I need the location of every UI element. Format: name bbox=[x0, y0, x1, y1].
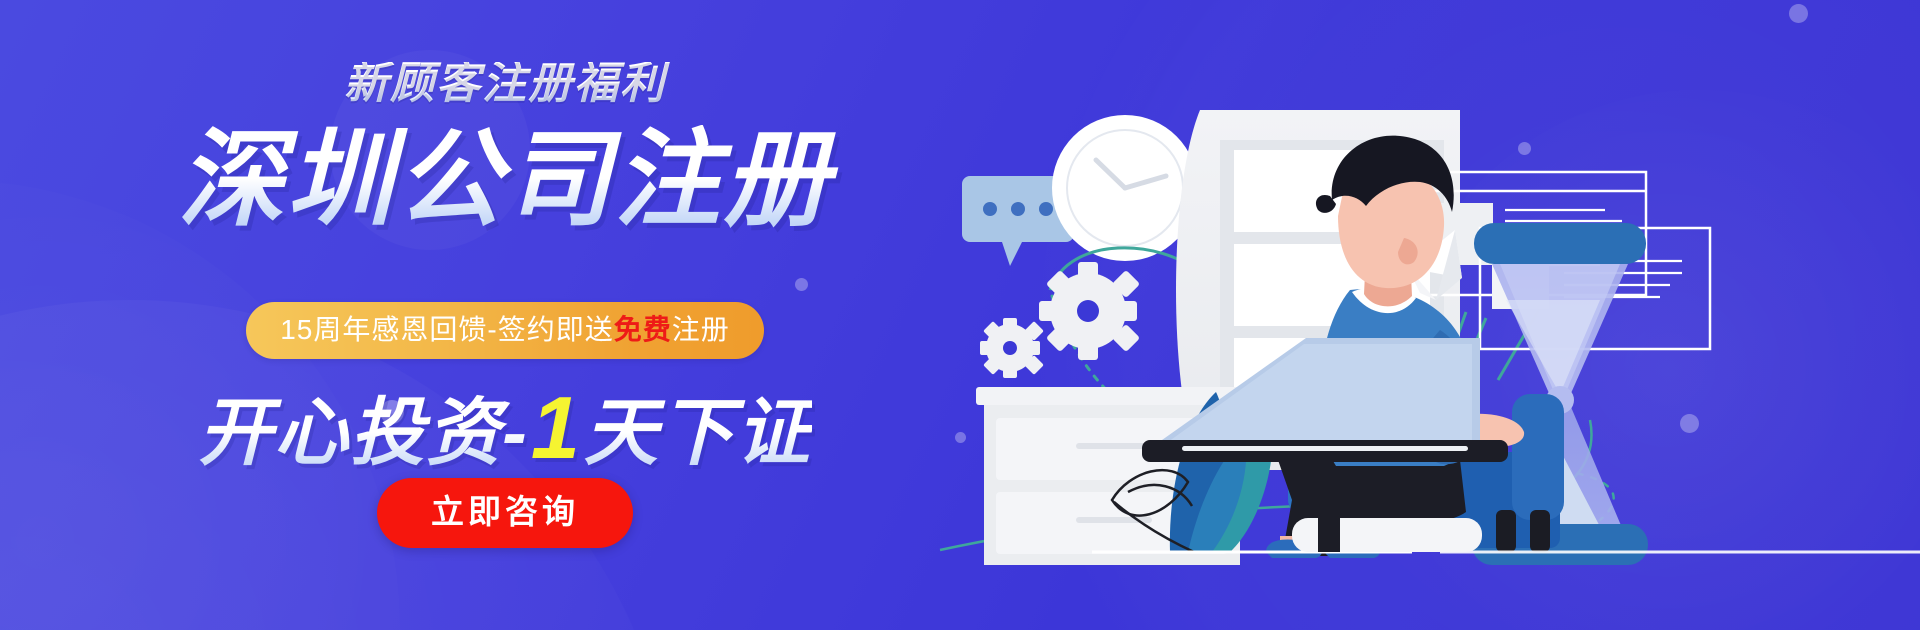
floor-mat bbox=[1292, 518, 1482, 552]
gear-icon-large bbox=[1039, 262, 1140, 360]
tagline-before: 开心投资- bbox=[198, 391, 529, 474]
promo-badge: 15周年感恩回馈-签约即送免费注册 bbox=[246, 302, 764, 359]
eyebrow-text: 新顾客注册福利 bbox=[0, 62, 1010, 106]
tagline-number: 1 bbox=[529, 378, 584, 477]
page-title: 深圳公司注册 bbox=[0, 125, 1010, 236]
promo-banner: 新顾客注册福利 深圳公司注册 15周年感恩回馈-签约即送免费注册 开心投资-1天… bbox=[0, 0, 1920, 630]
promo-suffix: 注册 bbox=[672, 314, 730, 345]
tagline: 开心投资-1天下证 bbox=[0, 382, 1010, 474]
cta-wrap: 立即咨询 bbox=[0, 478, 1010, 548]
illustration bbox=[900, 0, 1920, 630]
clock-icon bbox=[1052, 115, 1198, 261]
gear-icon-small bbox=[980, 318, 1044, 378]
promo-pill-wrap: 15周年感恩回馈-签约即送免费注册 bbox=[0, 302, 1010, 359]
promo-prefix: 15周年感恩回馈-签约即送 bbox=[280, 314, 613, 345]
promo-highlight: 免费 bbox=[614, 314, 672, 345]
tagline-after: 天下证 bbox=[584, 391, 812, 474]
consult-now-button[interactable]: 立即咨询 bbox=[377, 478, 633, 548]
